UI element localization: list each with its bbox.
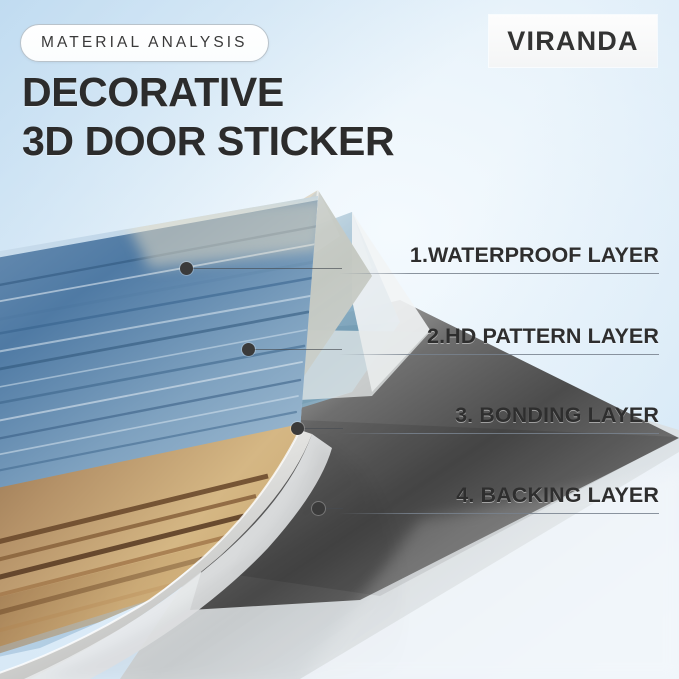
material-analysis-badge: MATERIAL ANALYSIS (20, 24, 269, 62)
callout-waterproof-rule (339, 273, 659, 274)
callout-hd-pattern-label: 2.HD PATTERN LAYER (427, 324, 659, 349)
page-title-line-1: DECORATIVE (22, 69, 284, 115)
leader-line-hd-pattern (254, 349, 342, 350)
leader-line-bonding (303, 428, 343, 429)
brand-logo-text: VIRANDA (507, 26, 638, 57)
callout-backing: 4. BACKING LAYER (339, 476, 659, 514)
leader-line-backing (324, 508, 343, 509)
callout-bonding-rule (339, 433, 659, 434)
material-analysis-badge-label: MATERIAL ANALYSIS (41, 34, 248, 52)
anchor-dot-waterproof (180, 262, 193, 275)
callout-hd-pattern-rule (339, 354, 659, 355)
callout-backing-label: 4. BACKING LAYER (456, 483, 659, 508)
anchor-dot-bonding (291, 422, 304, 435)
anchor-dot-backing (312, 502, 325, 515)
callout-waterproof-label: 1.WATERPROOF LAYER (410, 243, 659, 268)
callout-backing-rule (339, 513, 659, 514)
anchor-dot-hd-pattern (242, 343, 255, 356)
page-title-line-2: 3D DOOR STICKER (22, 117, 394, 166)
brand-logo: VIRANDA (489, 15, 657, 67)
callout-hd-pattern: 2.HD PATTERN LAYER (339, 317, 659, 355)
callout-bonding-label: 3. BONDING LAYER (455, 403, 659, 428)
leader-line-waterproof (192, 268, 342, 269)
poster-canvas: MATERIAL ANALYSIS DECORATIVE 3D DOOR STI… (0, 0, 679, 679)
page-title: DECORATIVE 3D DOOR STICKER (22, 68, 394, 166)
callout-waterproof: 1.WATERPROOF LAYER (339, 236, 659, 274)
callout-bonding: 3. BONDING LAYER (339, 396, 659, 434)
